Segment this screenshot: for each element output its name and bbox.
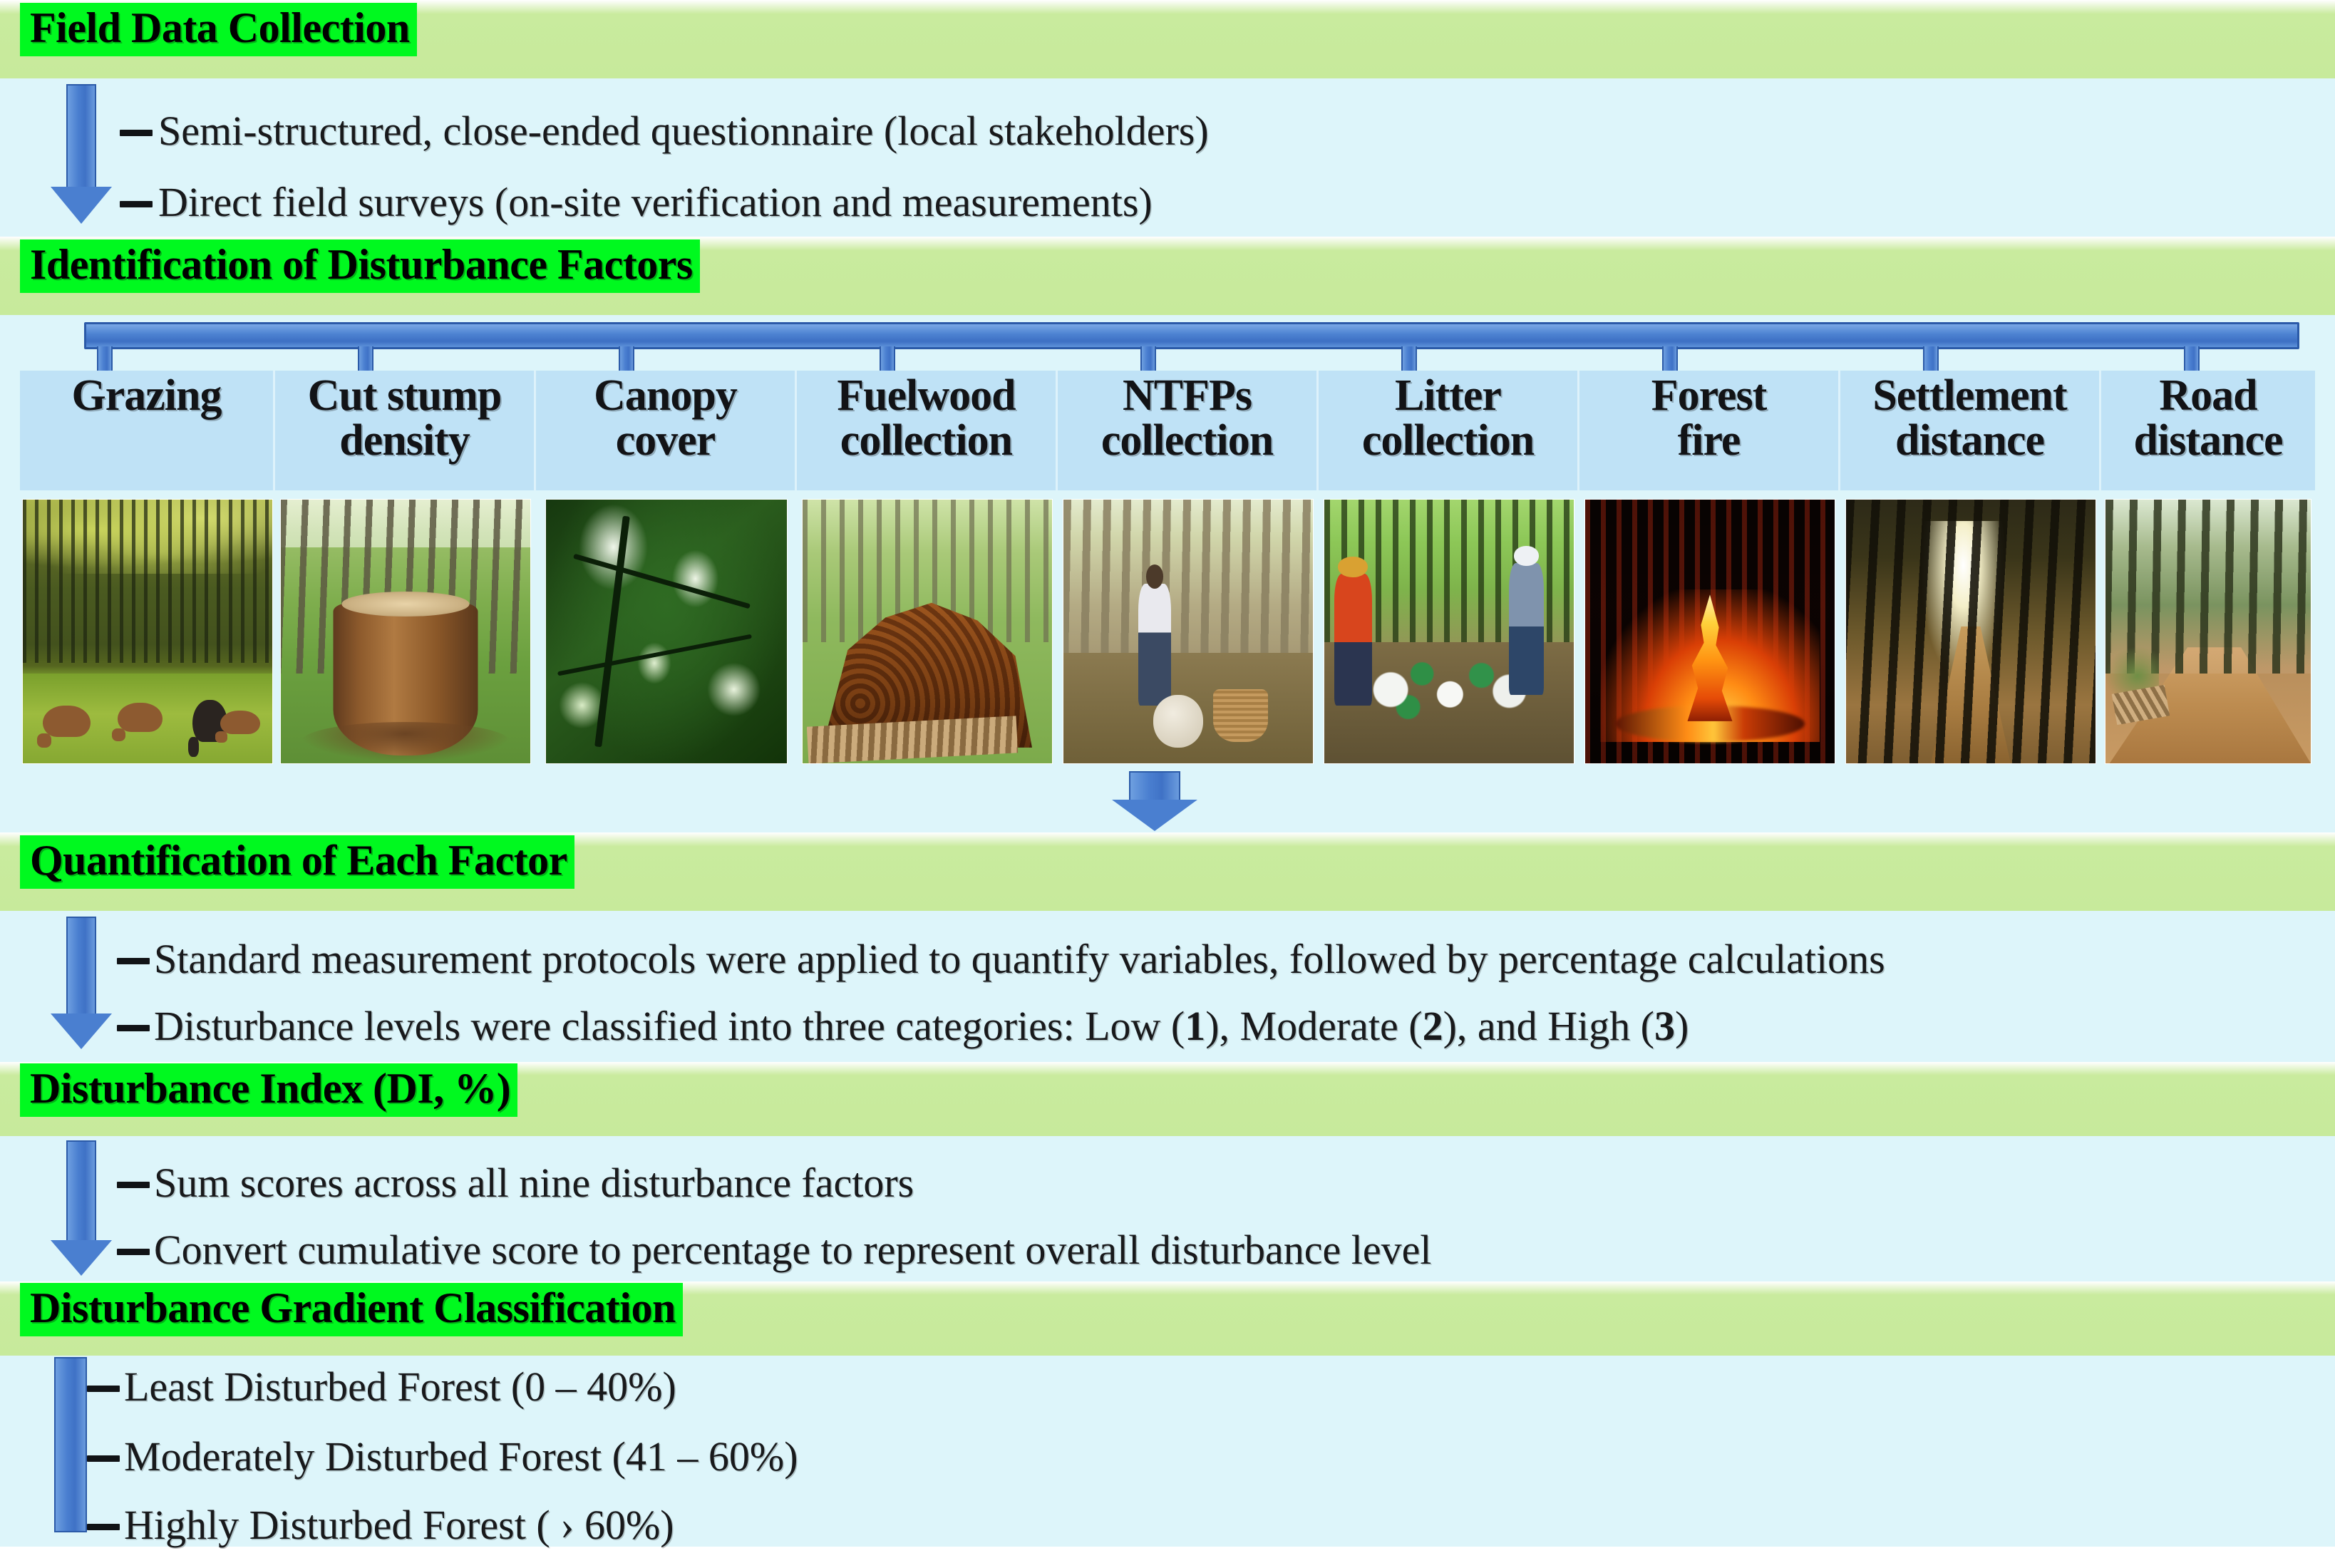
bullet-tick xyxy=(87,1455,120,1462)
cow-shape xyxy=(118,703,163,732)
tree-trunks-layer xyxy=(1063,500,1313,658)
cut-tree-stump-photo xyxy=(280,499,531,764)
down-arrow-disturbance-index xyxy=(50,1140,113,1276)
foliage-layer xyxy=(546,500,787,763)
factor-label-ntfps-collection: NTFPs collection xyxy=(1101,373,1273,463)
forest-canopy-photo xyxy=(545,499,788,764)
factor-label-litter-collection: Litter collection xyxy=(1362,373,1534,463)
factor-cell-canopy-cover: Canopy cover xyxy=(536,371,797,490)
factor-cell-cut-stump-density: Cut stump density xyxy=(275,371,536,490)
down-arrow-quantification xyxy=(50,917,113,1049)
litter-collection-photo xyxy=(1324,499,1574,764)
bullet-tick xyxy=(87,1386,120,1392)
tree-trunks-layer xyxy=(1846,500,2096,763)
factor-cell-litter-collection: Litter collection xyxy=(1319,371,1579,490)
dirt-road-photo xyxy=(2105,499,2311,764)
factor-cell-settlement-distance: Settlement distance xyxy=(1840,371,2101,490)
merge-down-arrow xyxy=(1112,771,1197,831)
bullet-gradient-0: Least Disturbed Forest (0 – 40%) xyxy=(124,1366,676,1408)
forest-trail-photo xyxy=(1845,499,2096,764)
page-title-disturbance-index: Disturbance Index (DI, %) xyxy=(20,1063,517,1117)
factor-cell-fuelwood-collection: Fuelwood collection xyxy=(797,371,1058,490)
factor-label-fuelwood-collection: Fuelwood collection xyxy=(837,373,1015,463)
plastic-waste-pile xyxy=(1359,642,1534,721)
arrow-shaft xyxy=(66,917,96,1016)
cow-shape xyxy=(43,706,91,737)
factor-cell-ntfps-collection: NTFPs collection xyxy=(1058,371,1319,490)
factor-cell-forest-fire: Forest fire xyxy=(1579,371,1840,490)
percent-symbol: % xyxy=(454,1065,497,1112)
bullet-field-data-1: Direct field surveys (on-site verificati… xyxy=(158,182,1153,223)
page-title-field-data-collection: Field Data Collection xyxy=(20,3,417,56)
bullet-field-data-0: Semi-structured, close-ended questionnai… xyxy=(158,110,1209,152)
bullet-disturbance-index-1: Convert cumulative score to percentage t… xyxy=(154,1229,1431,1271)
arrow-shaft xyxy=(1129,771,1180,801)
arrow-head xyxy=(51,1240,112,1276)
arrow-shaft xyxy=(66,1140,96,1242)
cow-shape xyxy=(220,711,260,734)
distributor-bar xyxy=(84,322,2299,349)
gradient-connector-bar xyxy=(54,1357,87,1532)
bullet-tick xyxy=(120,201,153,207)
arrow-shaft xyxy=(66,84,96,191)
sack-shape xyxy=(1153,695,1203,748)
page-title-quantification-of-each-factor: Quantification of Each Factor xyxy=(20,835,574,889)
factor-label-forest-fire: Forest fire xyxy=(1651,373,1767,463)
factor-cell-grazing: Grazing xyxy=(20,371,275,490)
bullet-gradient-1: Moderately Disturbed Forest (41 – 60%) xyxy=(124,1436,798,1477)
factor-photo-row xyxy=(20,499,2315,770)
arrow-head xyxy=(51,187,112,224)
factor-label-cut-stump-density: Cut stump density xyxy=(308,373,502,463)
bullet-tick xyxy=(117,1249,150,1255)
arrow-head xyxy=(1112,800,1197,831)
bullet-disturbance-index-0: Sum scores across all nine disturbance f… xyxy=(154,1162,914,1204)
ntfp-collector-photo xyxy=(1063,499,1314,764)
worker-blue-shirt xyxy=(1509,563,1544,695)
factor-label-canopy-cover: Canopy cover xyxy=(594,373,737,463)
bullet-tick xyxy=(117,1182,150,1188)
basket-shape xyxy=(1213,689,1268,742)
fuelwood-stack-photo xyxy=(802,499,1053,764)
arrow-head xyxy=(51,1013,112,1049)
bullet-tick xyxy=(87,1524,120,1530)
factor-label-row: Grazing Cut stump density Canopy cover F… xyxy=(20,371,2315,490)
factor-label-grazing: Grazing xyxy=(72,373,222,418)
cattle-grazing-photo xyxy=(22,499,273,764)
stump-shape xyxy=(334,602,478,755)
forest-fire-photo xyxy=(1584,499,1835,764)
page-title-disturbance-gradient-classification: Disturbance Gradient Classification xyxy=(20,1283,683,1336)
bullet-tick xyxy=(117,1025,150,1031)
tree-trunks-layer xyxy=(23,500,272,663)
bullet-gradient-2: Highly Disturbed Forest ( › 60%) xyxy=(124,1505,674,1546)
down-arrow-field-data xyxy=(50,84,113,224)
band-white-footer xyxy=(0,1547,2335,1568)
factor-label-settlement-distance: Settlement distance xyxy=(1872,373,2066,463)
worker-red-jacket xyxy=(1334,574,1372,706)
collector-person-shape xyxy=(1138,584,1171,705)
bullet-tick xyxy=(117,958,150,964)
factor-cell-road-distance: Road distance xyxy=(2101,371,2315,490)
factor-label-road-distance: Road distance xyxy=(2134,373,2283,463)
bullet-tick xyxy=(120,130,153,136)
bullet-quantification-1: Disturbance levels were classified into … xyxy=(154,1006,1689,1047)
page-title-identification-of-disturbance-factors: Identification of Disturbance Factors xyxy=(20,239,700,293)
bullet-quantification-0: Standard measurement protocols were appl… xyxy=(154,939,1885,980)
